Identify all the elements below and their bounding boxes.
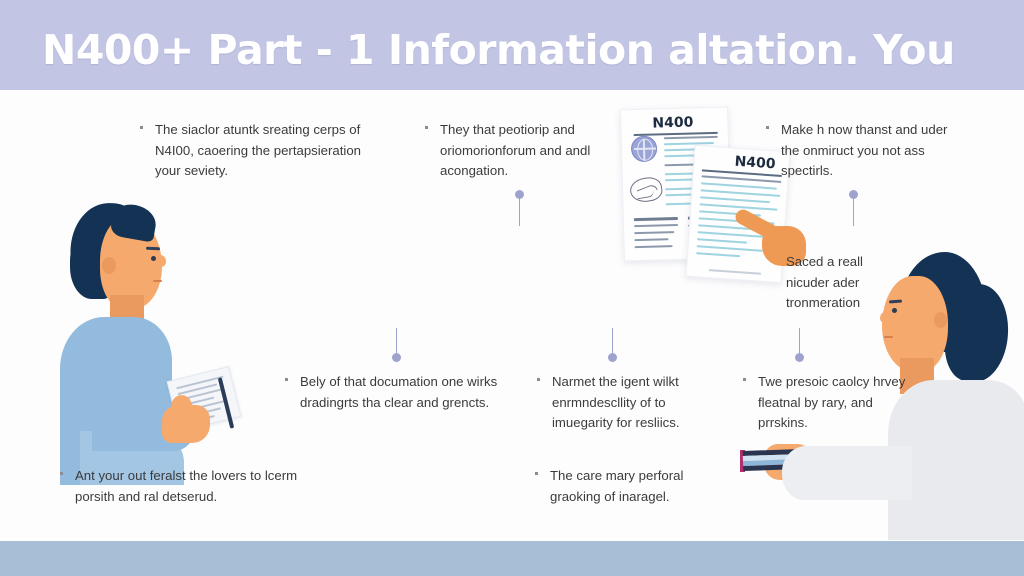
man-mouth xyxy=(153,280,162,282)
pin-mid-1 xyxy=(392,322,402,362)
slide-footer xyxy=(0,541,1024,576)
man-reading-document-illustration xyxy=(52,195,252,485)
bullet-mid-right-text: Twe presoic caolcy hrvey fleatnal by rar… xyxy=(758,372,908,434)
bullet-bottom-mid-text: The care mary perforal graoking of inara… xyxy=(550,466,730,507)
bullet-marker xyxy=(766,126,769,129)
bullet-marker xyxy=(535,472,538,475)
pin-mid-1-stem xyxy=(396,328,397,356)
pin-mid-2-head xyxy=(608,353,617,362)
globe-seal-inner xyxy=(637,139,654,161)
pin-mid-1-head xyxy=(392,353,401,362)
bullet-mid-right: Twe presoic caolcy hrvey fleatnal by rar… xyxy=(743,372,908,434)
bullet-top-right-text: Make h now thanst and uder the onmiruct … xyxy=(781,120,956,182)
pin-mid-2-stem xyxy=(612,328,613,356)
pin-top-1 xyxy=(515,190,525,230)
bullet-top-mid-text: They that peotiorip and oriomorionforum … xyxy=(440,120,605,182)
pin-top-2-stem xyxy=(853,198,854,226)
slide-header: N400+ Part - 1 Information altation. You xyxy=(0,0,1024,90)
eagle-wing-lower xyxy=(637,191,655,200)
bullet-marker xyxy=(285,378,288,381)
pin-mid-3-stem xyxy=(799,328,800,356)
woman-arm xyxy=(782,446,912,500)
bullet-top-right: Make h now thanst and uder the onmiruct … xyxy=(766,120,956,182)
pin-mid-3-head xyxy=(795,353,804,362)
callout-text: Saced a reall nicuder ader tronmeration xyxy=(786,252,906,314)
slide-body: N400 xyxy=(0,90,1024,541)
pin-top-2 xyxy=(849,190,859,230)
bullet-bottom-left: Ant your out feralst the lovers to lcerm… xyxy=(60,466,335,507)
bullet-bottom-mid: The care mary perforal graoking of inara… xyxy=(535,466,730,507)
bullet-mid-left: Bely of that documation one wirks dradin… xyxy=(285,372,500,413)
bullet-mid-center: Narmet the igent wilkt enrmndescllity of… xyxy=(537,372,722,434)
bullet-marker xyxy=(743,378,746,381)
woman-nose xyxy=(880,312,889,323)
bullet-marker xyxy=(425,126,428,129)
woman-mouth xyxy=(884,336,893,338)
man-eye xyxy=(151,256,156,261)
eagle-emblem-icon xyxy=(628,175,664,204)
slide-canvas: N400+ Part - 1 Information altation. You xyxy=(0,0,1024,576)
page-title: N400+ Part - 1 Information altation. You xyxy=(42,26,955,74)
bullet-top-mid: They that peotiorip and oriomorionforum … xyxy=(425,120,605,182)
bullet-mid-center-text: Narmet the igent wilkt enrmndescllity of… xyxy=(552,372,722,434)
front-page-footer-line xyxy=(709,269,761,274)
pin-mid-2 xyxy=(608,322,618,362)
bullet-bottom-left-text: Ant your out feralst the lovers to lcerm… xyxy=(75,466,335,507)
pin-mid-3 xyxy=(795,322,805,362)
woman-ear xyxy=(934,312,947,328)
bullet-mid-left-text: Bely of that documation one wirks dradin… xyxy=(300,372,500,413)
man-nose xyxy=(156,255,166,267)
man-ear xyxy=(102,257,116,274)
bullet-top-left: The siaclor atuntk sreating cerps of N4I… xyxy=(140,120,390,182)
globe-seal-icon xyxy=(631,135,658,162)
bullet-top-left-text: The siaclor atuntk sreating cerps of N4I… xyxy=(155,120,390,182)
bullet-marker xyxy=(537,378,540,381)
bullet-marker xyxy=(60,472,63,475)
pin-top-1-stem xyxy=(519,198,520,226)
back-page-title: N400 xyxy=(652,115,693,132)
bullet-marker xyxy=(140,126,143,129)
